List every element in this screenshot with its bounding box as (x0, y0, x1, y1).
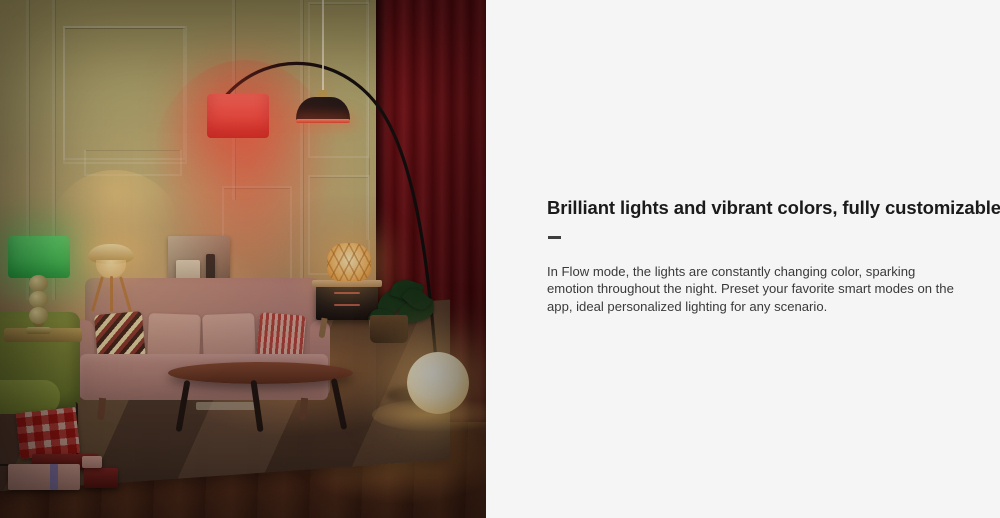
gift-ribbon (50, 464, 58, 490)
green-lamp-orb-1 (29, 275, 48, 292)
product-lifestyle-photo (0, 0, 486, 518)
pendant-cone-shade (296, 97, 350, 121)
feature-text-block: Brilliant lights and vibrant colors, ful… (547, 196, 995, 315)
green-lamp-orb-2 (29, 291, 48, 308)
pendant-light-lip (296, 119, 350, 123)
headline-divider-rule (548, 236, 561, 239)
coffee-table-top (168, 362, 353, 384)
sphere-floor-lamp (407, 352, 469, 414)
coffee-table-shelf (196, 402, 256, 410)
nightstand-handle-2 (334, 304, 360, 306)
nightstand-top (312, 280, 382, 287)
green-lamp-shade (8, 236, 70, 278)
feature-headline: Brilliant lights and vibrant colors, ful… (547, 196, 995, 220)
geometric-table-lamp (327, 243, 371, 281)
gift-tiny-box (82, 456, 102, 468)
feature-body-text: In Flow mode, the lights are constantly … (547, 263, 959, 315)
plant-basket-pot (370, 315, 408, 343)
marketing-feature-section: Brilliant lights and vibrant colors, ful… (0, 0, 1000, 518)
green-lamp-base (26, 327, 51, 334)
pendant-cord (322, 0, 324, 92)
tripod-lamp-leg-2 (110, 276, 113, 312)
gift-dark-red-small (84, 468, 118, 488)
nightstand-handle-1 (334, 292, 360, 294)
gift-pink-box (8, 464, 80, 490)
gift-checkered (16, 407, 80, 459)
feature-text-panel: Brilliant lights and vibrant colors, ful… (486, 0, 1000, 518)
wall-panel-step (84, 150, 182, 176)
green-lamp-orb-3 (29, 307, 48, 324)
wall-panel-wide (63, 26, 187, 164)
wall-panel-door-upper (308, 2, 370, 158)
arc-lamp-red-shade (207, 94, 269, 138)
